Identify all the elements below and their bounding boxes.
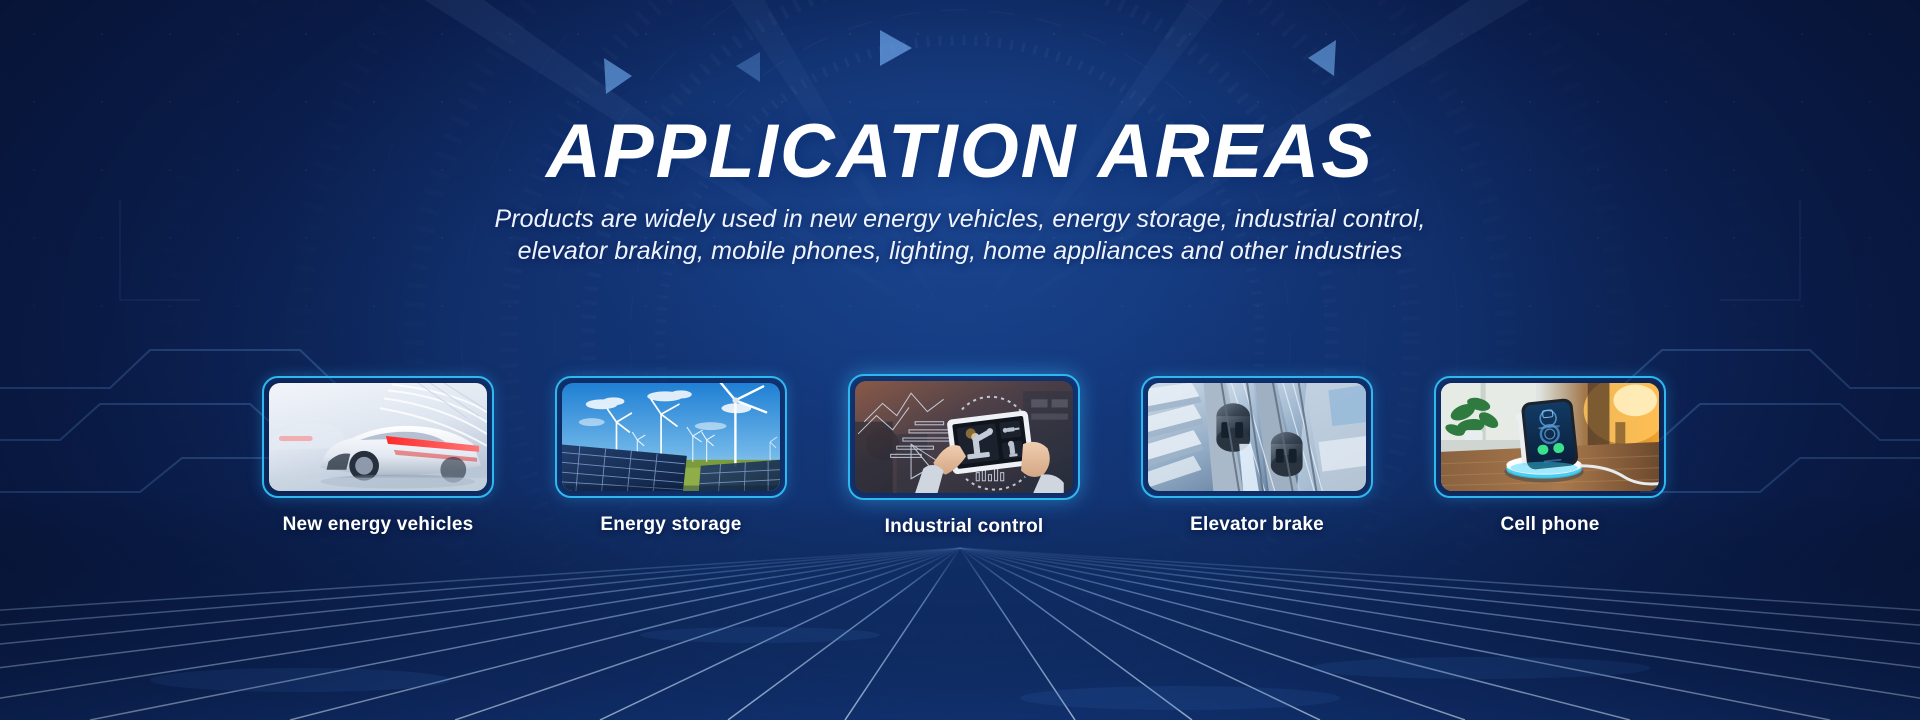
page-subtitle: Products are widely used in new energy v… [460,203,1460,267]
card-thumbnail-frame[interactable] [1141,376,1373,498]
subtitle-line-1: Products are widely used in new energy v… [460,203,1460,235]
application-areas-banner: APPLICATION AREAS Products are widely us… [0,0,1920,720]
card-label: Elevator brake [1141,514,1373,536]
application-card-industrial-control[interactable]: Industrial control [848,376,1080,538]
card-thumbnail-frame[interactable] [555,376,787,498]
card-label: New energy vehicles [262,514,494,536]
application-card-list: New energy vehicles [262,376,1666,556]
card-label: Industrial control [848,516,1080,538]
application-card-elevator-brake[interactable]: Elevator brake [1141,376,1373,536]
card-label: Cell phone [1434,514,1666,536]
card-thumbnail-frame[interactable] [1434,376,1666,498]
application-card-energy-storage[interactable]: Energy storage [555,376,787,536]
application-card-new-energy-vehicles[interactable]: New energy vehicles [262,376,494,536]
white-sports-car-photo [269,383,487,491]
solar-panels-wind-turbines-photo [562,383,780,491]
page-title: APPLICATION AREAS [0,114,1920,190]
glass-elevator-shafts-photo [1148,383,1366,491]
card-thumbnail-frame[interactable] [848,374,1080,500]
hands-tablet-robot-arm-photo [855,381,1073,493]
card-label: Energy storage [555,514,787,536]
subtitle-line-2: elevator braking, mobile phones, lightin… [460,235,1460,267]
phone-wireless-charging-stand-photo [1441,383,1659,491]
application-card-cell-phone[interactable]: Cell phone [1434,376,1666,536]
card-thumbnail-frame[interactable] [262,376,494,498]
